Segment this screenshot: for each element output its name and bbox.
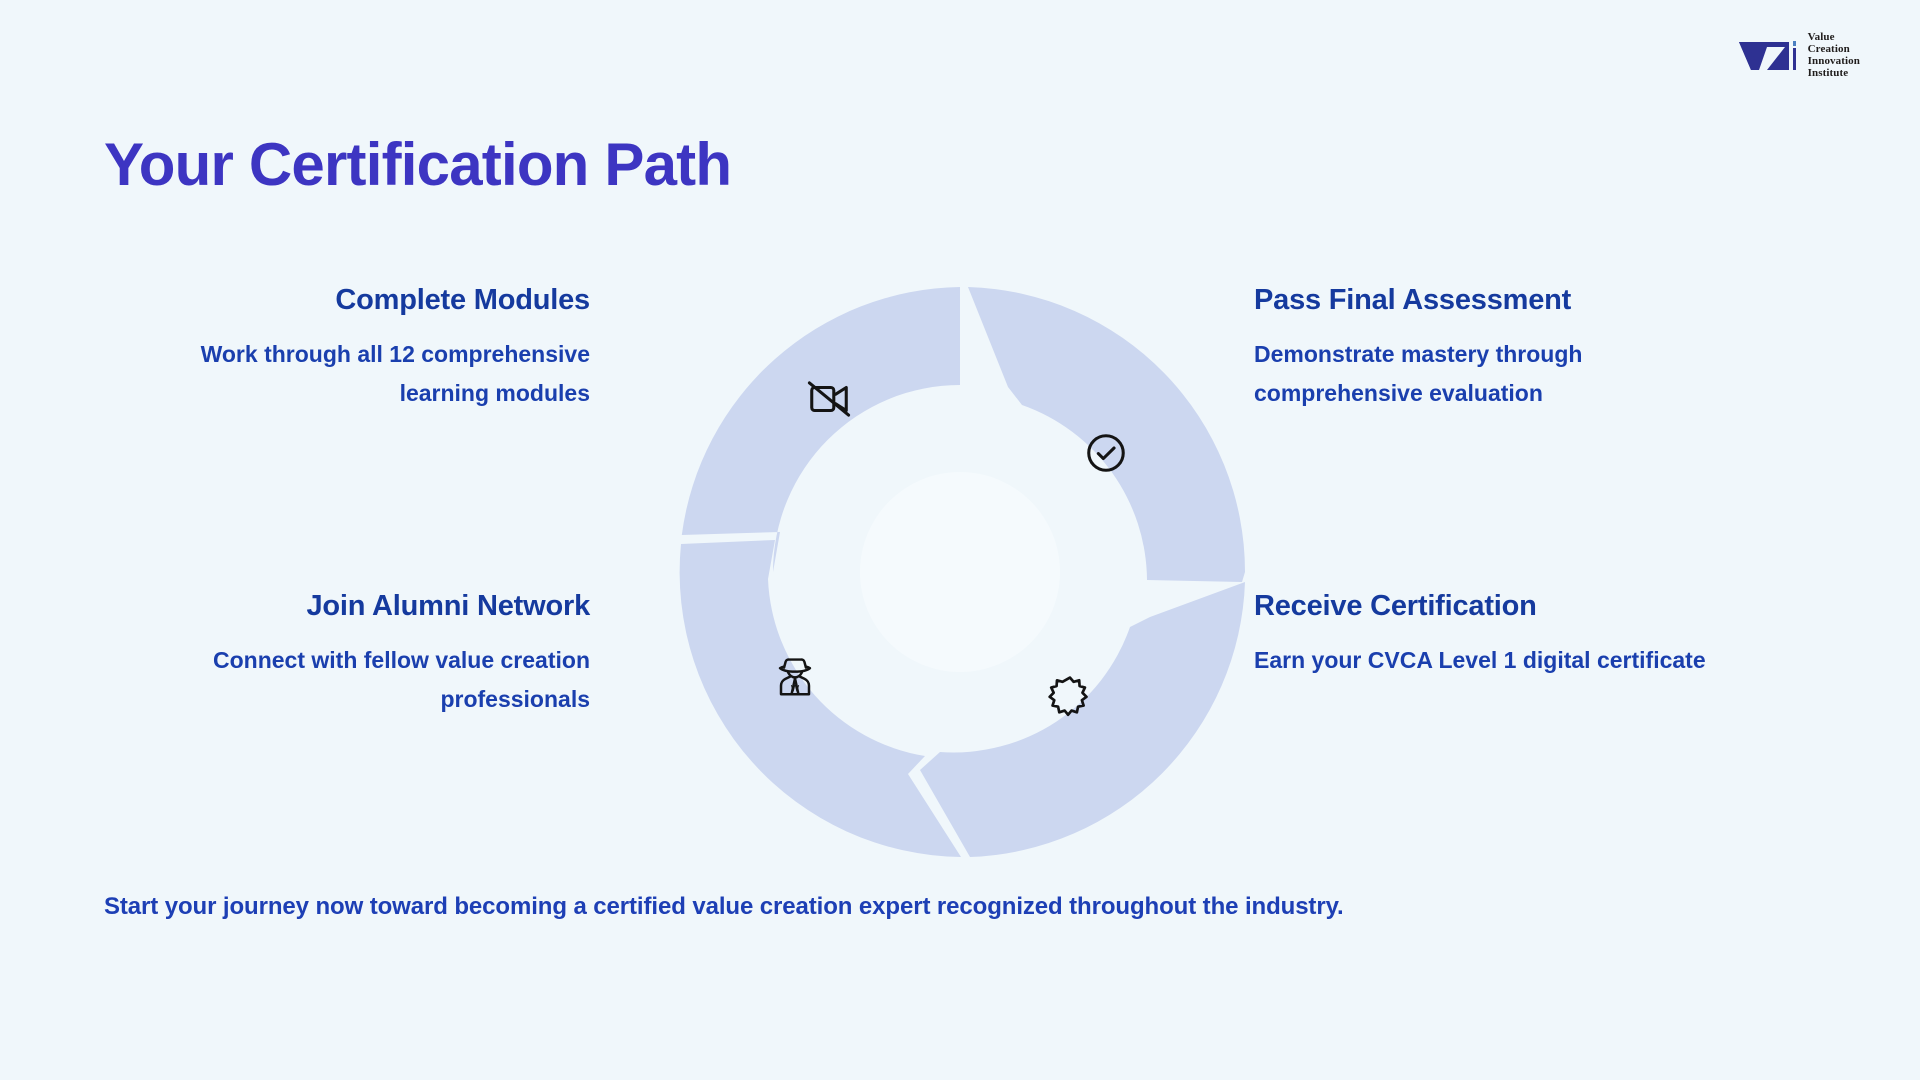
step-description: Connect with fellow value creation profe… (120, 641, 590, 718)
step-title: Complete Modules (120, 284, 590, 317)
step-label-pass-final-assessment: Pass Final Assessment Demonstrate master… (1254, 284, 1724, 412)
logo-line-3: Innovation (1808, 56, 1860, 68)
donut-hub (860, 472, 1060, 672)
step-title: Pass Final Assessment (1254, 284, 1724, 317)
logo-line-4: Institute (1808, 68, 1860, 80)
check-circle-icon (1083, 430, 1129, 476)
logo-line-2: Creation (1808, 44, 1860, 56)
footer-note: Start your journey now toward becoming a… (104, 893, 1344, 921)
logo-mark-icon (1737, 36, 1799, 76)
step-label-receive-certification: Receive Certification Earn your CVCA Lev… (1254, 590, 1724, 680)
svg-text:W: W (791, 684, 800, 694)
logo-wordmark: Value Creation Innovation Institute (1808, 32, 1860, 80)
step-description: Work through all 12 comprehensive learni… (120, 335, 590, 412)
step-description: Demonstrate mastery through comprehensiv… (1254, 335, 1724, 412)
detective-icon: W (772, 654, 818, 700)
certification-path-diagram: W Complete Modules Work through all 12 c… (0, 260, 1920, 880)
step-title: Receive Certification (1254, 590, 1724, 623)
step-title: Join Alumni Network (120, 590, 590, 623)
starburst-seal-icon (1047, 673, 1093, 719)
brand-logo: Value Creation Innovation Institute (1737, 32, 1860, 80)
step-description: Earn your CVCA Level 1 digital certifica… (1254, 641, 1724, 680)
step-label-join-alumni-network: Join Alumni Network Connect with fellow … (120, 590, 590, 718)
donut-cycle-chart: W (670, 282, 1250, 862)
step-label-complete-modules: Complete Modules Work through all 12 com… (120, 284, 590, 412)
video-off-icon (806, 376, 852, 422)
page-title: Your Certification Path (104, 130, 731, 199)
